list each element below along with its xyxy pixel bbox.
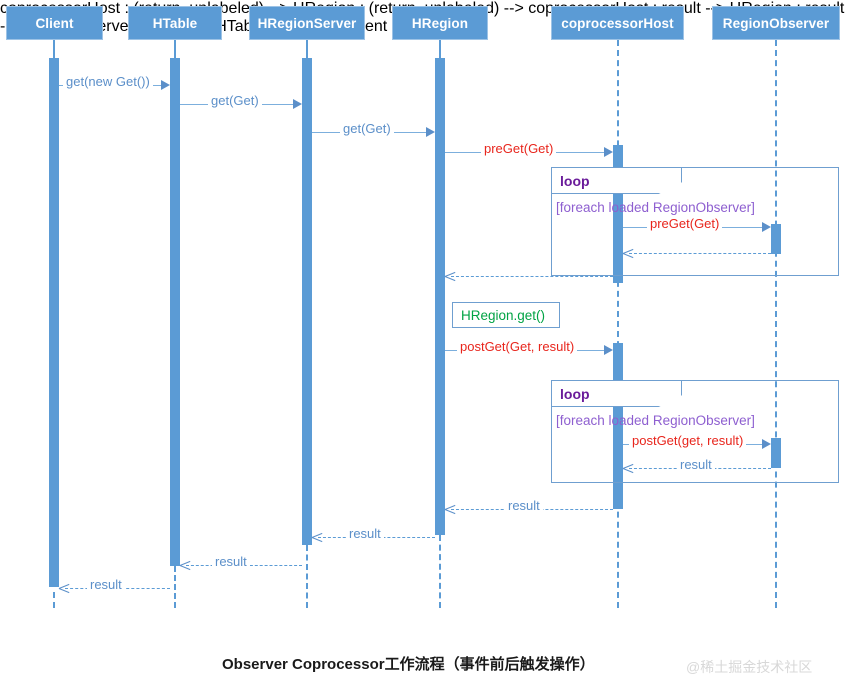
message-label: result [346, 527, 384, 541]
message-label: get(Get) [340, 122, 394, 136]
lifeline-hregion [439, 535, 441, 608]
arrow-head-icon [445, 270, 456, 282]
participant-hregionserver[interactable]: HRegionServer [249, 6, 365, 40]
lifeline-regionobserver [775, 40, 777, 608]
message-label: result [505, 499, 543, 513]
participant-coprocessorhost[interactable]: coprocessorHost [551, 6, 684, 40]
arrow-head-icon [762, 222, 771, 232]
lifeline-hregionserver [306, 545, 308, 608]
message-label: preGet(Get) [481, 142, 556, 156]
fragment-guard-preget: [foreach loaded RegionObserver] [556, 200, 755, 215]
lifeline-hregionserver-stub [306, 40, 308, 59]
participant-label: HTable [153, 16, 198, 31]
lifeline-htable-stub [174, 40, 176, 59]
lifeline-htable [174, 566, 176, 608]
arrow-head-icon [312, 531, 323, 543]
participant-hregion[interactable]: HRegion [392, 6, 488, 40]
message-label: result [677, 458, 715, 472]
watermark: @稀土掘金技术社区 [686, 657, 812, 677]
arrow-head-icon [623, 462, 634, 474]
participant-label: HRegionServer [258, 16, 357, 31]
message-label: result [87, 578, 125, 592]
participant-client[interactable]: Client [6, 6, 103, 40]
message-line [629, 253, 771, 254]
arrow-head-icon [623, 247, 634, 259]
message-label: postGet(get, result) [629, 434, 746, 448]
message-label: preGet(Get) [647, 217, 722, 231]
activation-client [49, 58, 59, 587]
fragment-operator-label: loop [552, 381, 682, 407]
lifeline-client [53, 592, 55, 608]
participant-label: HRegion [412, 16, 468, 31]
arrow-head-icon [604, 345, 613, 355]
participant-label: Client [35, 16, 73, 31]
arrow-head-icon [426, 127, 435, 137]
activation-hregionserver [302, 58, 312, 545]
fragment-guard-postget: [foreach loaded RegionObserver] [556, 413, 755, 428]
arrow-head-icon [59, 582, 70, 594]
lifeline-hregion-stub [439, 40, 441, 59]
lifeline-coprocessorhost [617, 40, 619, 608]
arrow-head-icon [180, 559, 191, 571]
note-text: HRegion.get() [461, 308, 545, 323]
arrow-head-icon [604, 147, 613, 157]
sequence-diagram-canvas: Client HTable HRegionServer HRegion copr… [0, 0, 849, 686]
message-label: postGet(Get, result) [457, 340, 577, 354]
fragment-operator-label: loop [552, 168, 682, 194]
arrow-head-icon [762, 439, 771, 449]
arrow-head-icon [445, 503, 456, 515]
participant-htable[interactable]: HTable [128, 6, 222, 40]
activation-hregion [435, 58, 445, 535]
lifeline-client-stub [53, 40, 55, 59]
message-label: get(Get) [208, 94, 262, 108]
arrow-head-icon [161, 80, 170, 90]
message-label: result [212, 555, 250, 569]
activation-htable [170, 58, 180, 566]
participant-label: RegionObserver [723, 16, 829, 31]
diagram-caption: Observer Coprocessor工作流程（事件前后触发操作） [222, 653, 595, 674]
participant-regionobserver[interactable]: RegionObserver [712, 6, 840, 40]
message-line [451, 276, 613, 277]
participant-label: coprocessorHost [561, 16, 674, 31]
arrow-head-icon [293, 99, 302, 109]
message-label: get(new Get()) [63, 75, 153, 89]
note-hregion-get: HRegion.get() [452, 302, 560, 328]
